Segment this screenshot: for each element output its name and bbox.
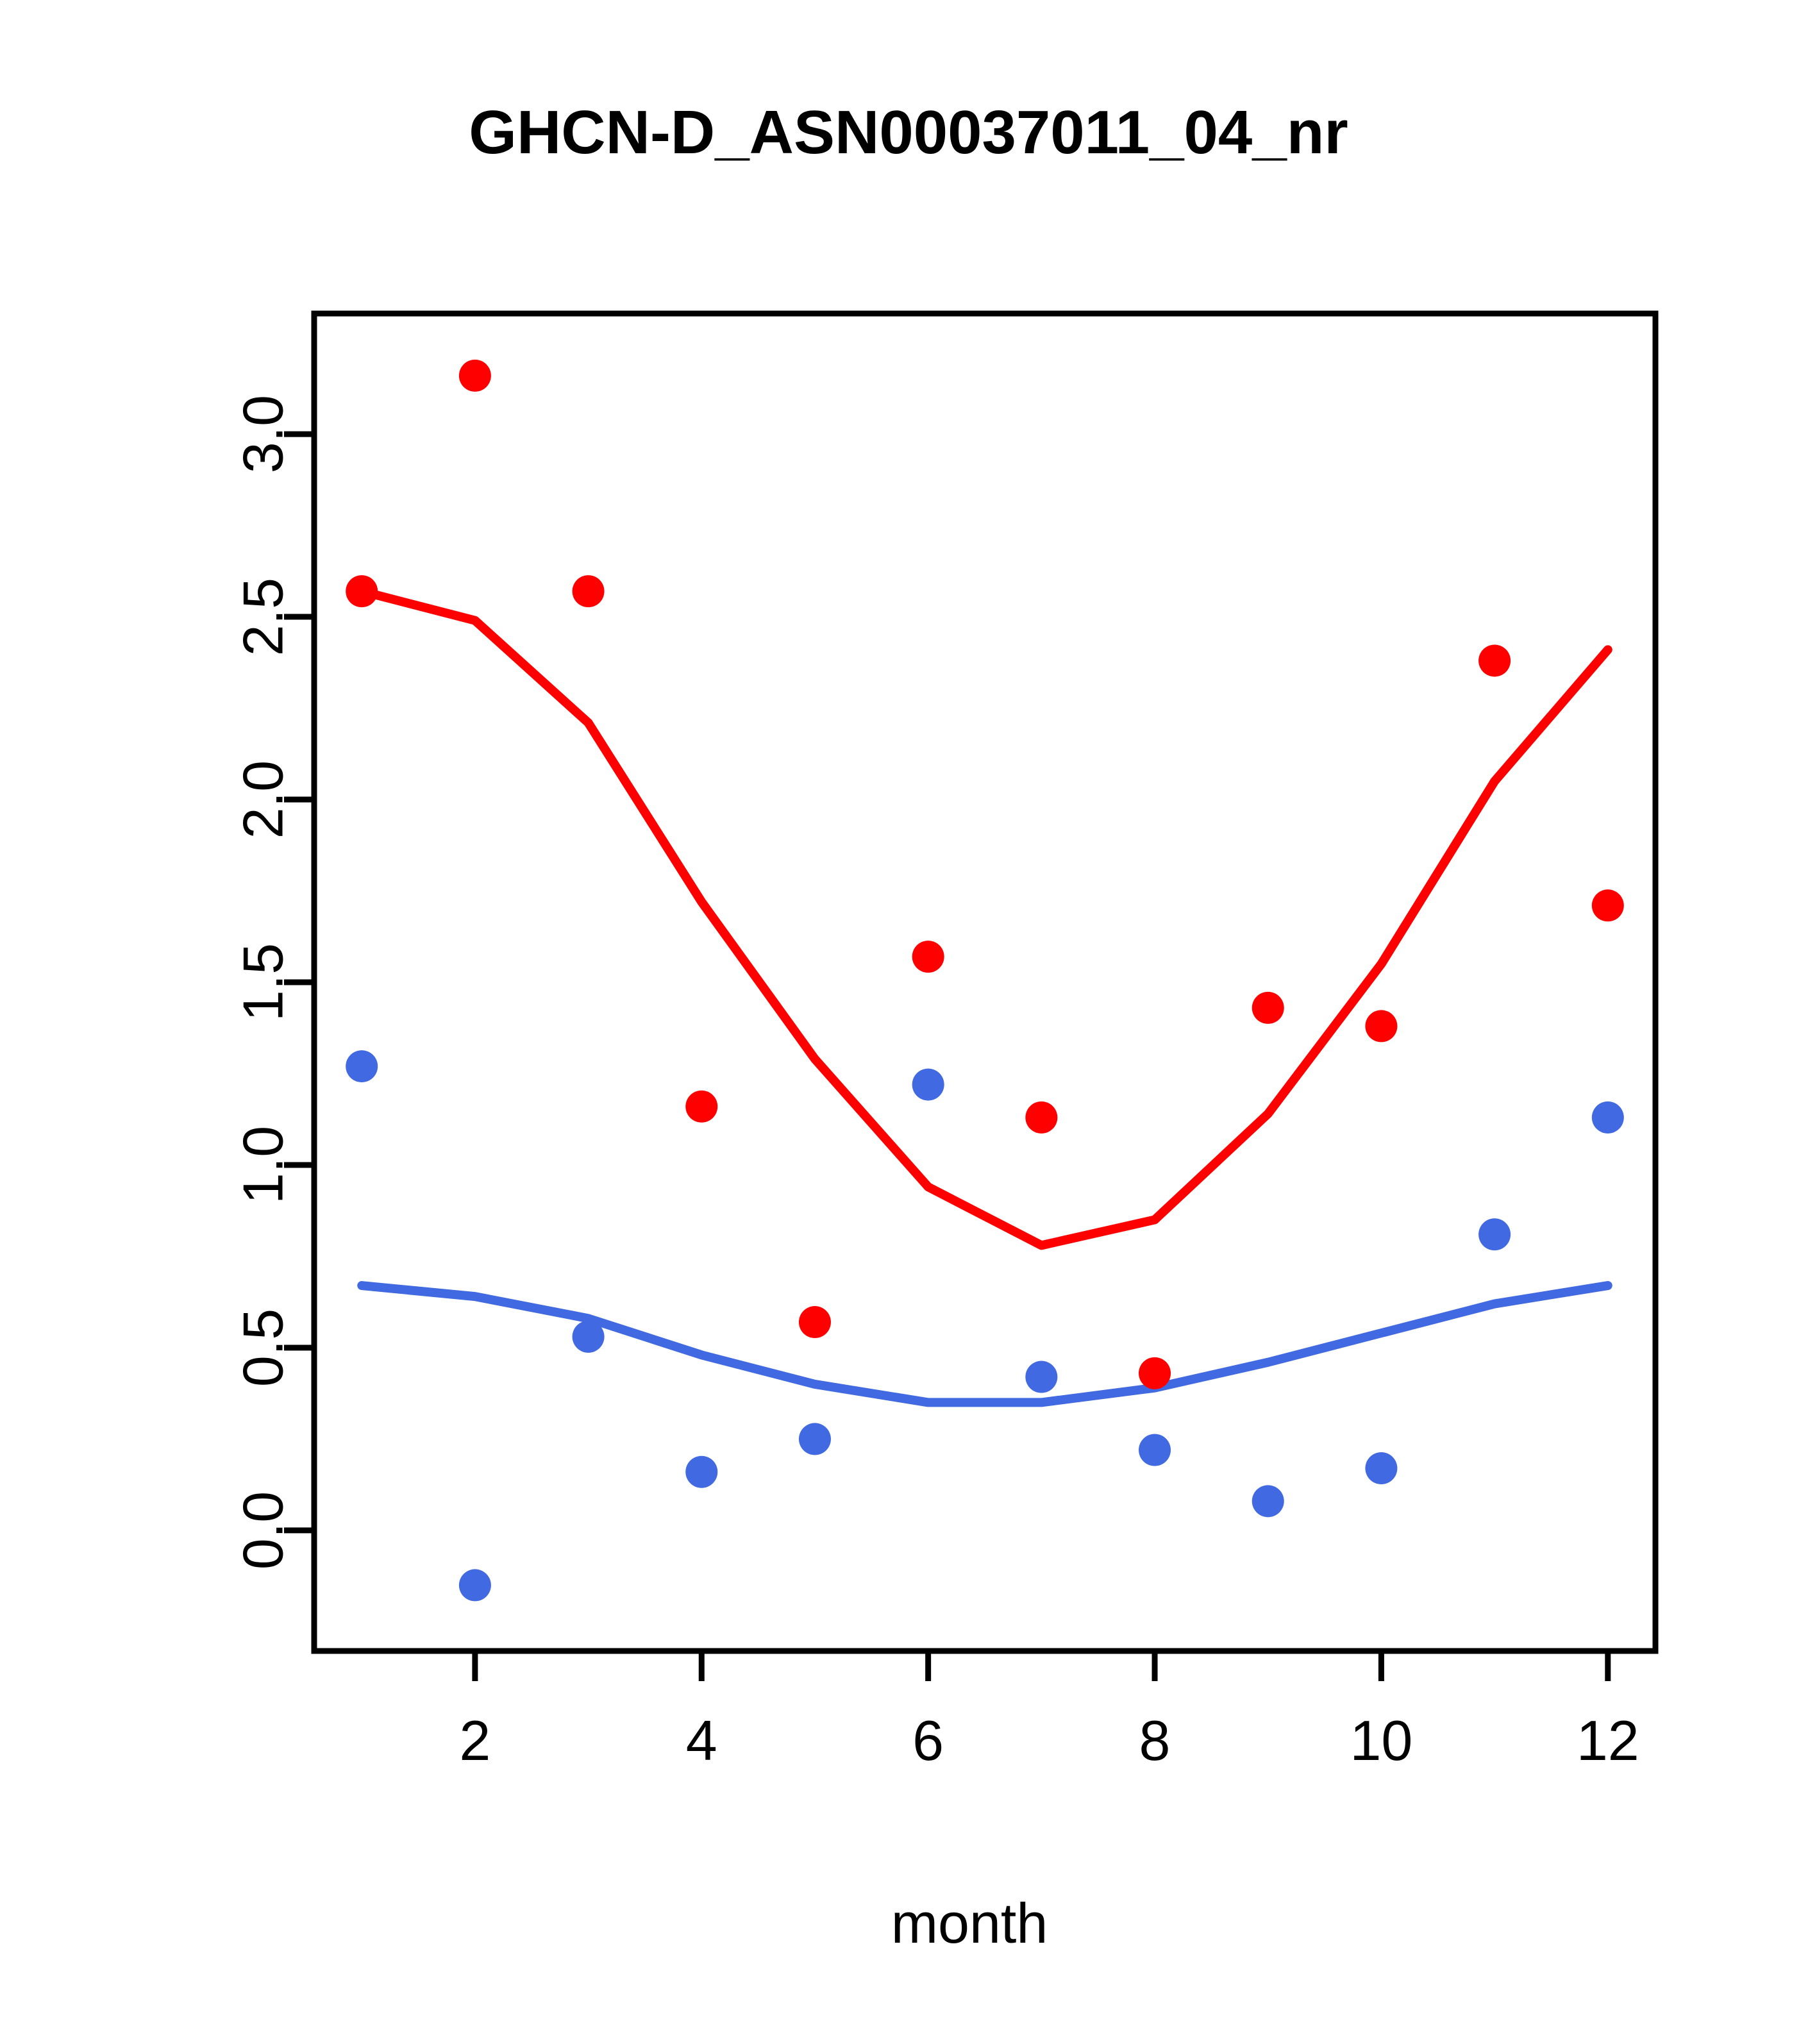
data-point-red-points [799,1306,831,1338]
data-point-red-points [1365,1010,1397,1042]
y-tick-label: 2.0 [231,760,295,839]
x-axis-tick-labels: 24681012 [459,1709,1639,1772]
data-point-red-points [1139,1357,1171,1389]
y-axis-tick-labels: 0.00.51.01.52.02.53.0 [231,395,295,1570]
data-point-blue-points [1478,1218,1511,1250]
y-tick-label: 1.5 [231,943,295,1021]
y-tick-label: 2.5 [231,578,295,656]
data-point-red-points [459,360,491,392]
trend-line-blue-line [362,1286,1608,1402]
x-axis-ticks [475,1651,1608,1681]
x-tick-label: 2 [459,1709,490,1772]
data-point-red-points [685,1091,717,1123]
data-point-blue-points [1592,1102,1624,1134]
trend-lines [362,591,1608,1402]
data-point-blue-points [799,1423,831,1455]
chart-container: GHCN-D_ASN00037011_04_nr 0.00.51.01.52.0… [0,0,1817,2044]
data-point-blue-points [912,1069,944,1101]
plot-border [314,314,1655,1651]
x-tick-label: 4 [686,1709,717,1772]
plot-frame [314,314,1655,1651]
data-point-red-points [1592,889,1624,921]
y-tick-label: 3.0 [231,395,295,473]
data-point-red-points [1478,644,1511,676]
scatter-plot: 0.00.51.01.52.02.53.0 24681012 month [0,0,1817,2044]
data-point-red-points [1252,992,1284,1024]
data-point-blue-points [346,1050,378,1082]
data-point-red-points [573,575,605,607]
data-point-blue-points [1252,1485,1284,1517]
data-point-blue-points [1139,1434,1171,1466]
x-tick-label: 8 [1139,1709,1171,1772]
y-tick-label: 0.5 [231,1309,295,1387]
data-point-red-points [346,575,378,607]
data-point-blue-points [459,1569,491,1601]
data-point-blue-points [573,1321,605,1353]
y-tick-label: 0.0 [231,1491,295,1570]
data-point-red-points [1025,1102,1057,1134]
data-point-blue-points [1365,1452,1397,1484]
x-axis-label: month [891,1891,1048,1955]
x-tick-label: 12 [1577,1709,1639,1772]
x-tick-label: 10 [1350,1709,1412,1772]
data-point-red-points [912,941,944,973]
data-point-blue-points [685,1456,717,1488]
y-tick-label: 1.0 [231,1126,295,1204]
data-point-blue-points [1025,1361,1057,1393]
data-points [346,360,1624,1602]
x-tick-label: 6 [912,1709,944,1772]
trend-line-red-line [362,591,1608,1245]
